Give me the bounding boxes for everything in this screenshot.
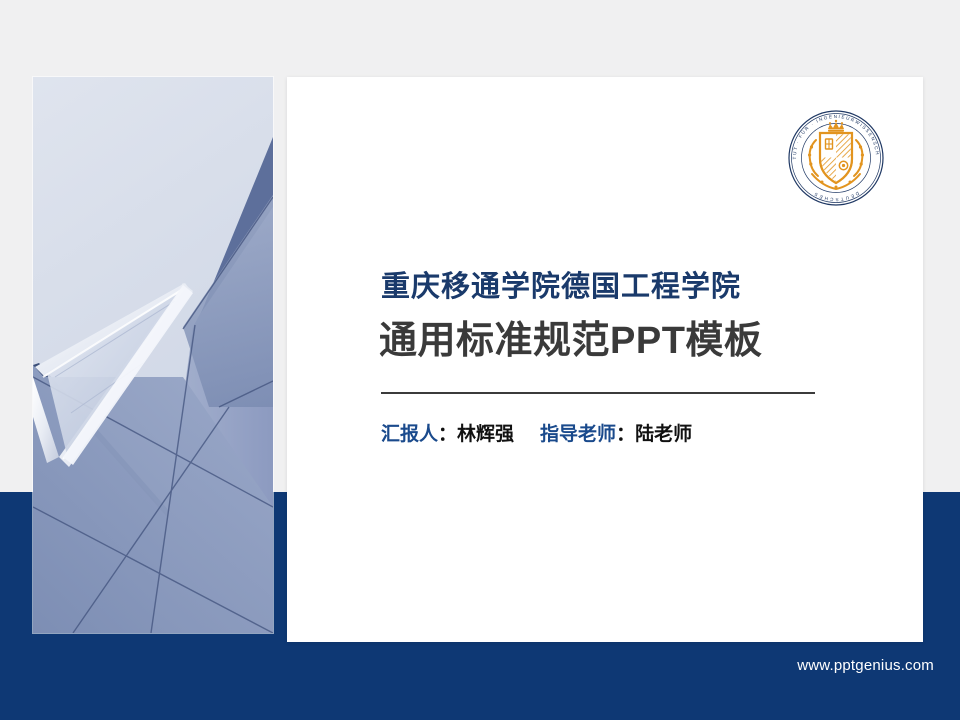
- presenter-name: 林辉强: [457, 424, 514, 445]
- presenter-separator: ：: [438, 424, 457, 445]
- website-url[interactable]: www.pptgenius.com: [797, 657, 934, 674]
- page-title: 通用标准规范PPT模板: [379, 309, 762, 364]
- university-seal-icon: INSTITUT · FÜR · INGENIEURWISSENSCHAFTEN…: [782, 104, 890, 212]
- advisor-name: 陆老师: [635, 424, 692, 445]
- title-divider: [381, 392, 815, 394]
- presenter-label: 汇报人: [381, 424, 438, 445]
- presenter-info-row: 汇报人：林辉强指导老师：陆老师: [381, 419, 692, 446]
- advisor-separator: ：: [616, 424, 635, 445]
- presentation-slide: INSTITUT · FÜR · INGENIEURWISSENSCHAFTEN…: [0, 0, 960, 720]
- advisor-label: 指导老师: [540, 424, 616, 445]
- cover-photo: [33, 77, 273, 633]
- organization-title: 重庆移通学院德国工程学院: [381, 263, 741, 305]
- content-card: INSTITUT · FÜR · INGENIEURWISSENSCHAFTEN…: [287, 77, 923, 642]
